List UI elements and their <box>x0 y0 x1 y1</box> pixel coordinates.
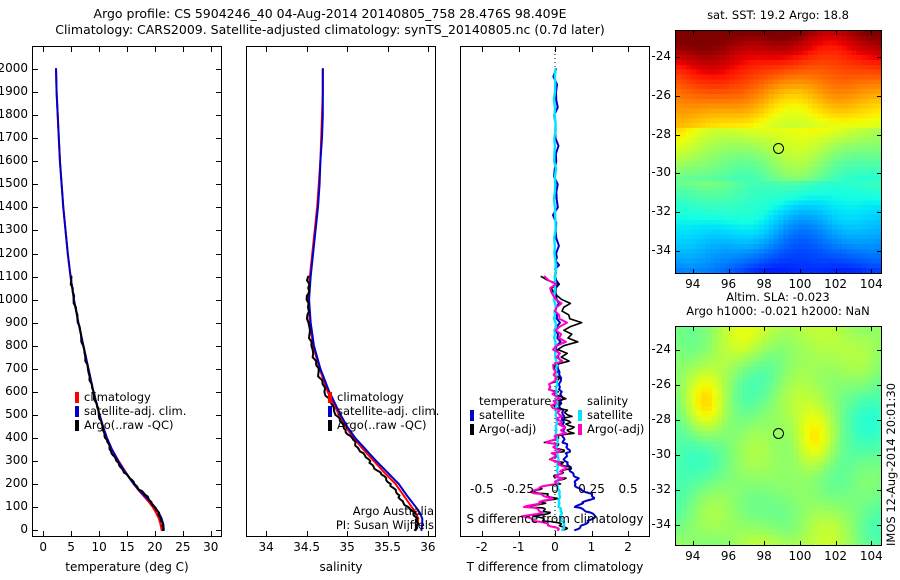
temperature-legend-label: climatology <box>84 390 151 404</box>
difference-temperature-legend-item[interactable]: satellite <box>470 408 551 422</box>
salinity-xaxis-label: salinity <box>246 560 436 574</box>
x-tick-top <box>127 46 128 52</box>
y-tick <box>32 69 38 70</box>
map-y-tick-right <box>877 490 882 491</box>
map-x-tick <box>729 541 730 546</box>
x-tick-top <box>482 46 483 52</box>
y-tick-label: 1900 <box>0 84 28 98</box>
map-x-tick-top <box>764 30 765 35</box>
map-y-tick-right <box>877 525 882 526</box>
difference-legend-temperature: temperaturesatelliteArgo(-adj) <box>470 394 551 436</box>
difference-temperature-legend-item[interactable]: Argo(-adj) <box>470 422 551 436</box>
y-tick-right <box>216 530 222 531</box>
y-tick <box>32 254 38 255</box>
map-y-tick-right <box>877 135 882 136</box>
y-tick-label: 600 <box>0 384 28 398</box>
x-tick-top <box>592 46 593 52</box>
salinity-legend-item[interactable]: satellite-adj. clim. <box>328 404 439 418</box>
difference-salinity-legend-swatch-icon <box>578 424 582 435</box>
y-tick-label: 700 <box>0 361 28 375</box>
y-tick-label: 1400 <box>0 199 28 213</box>
x-tick <box>482 531 483 537</box>
difference-temperature-legend-group-label: temperature <box>470 394 551 408</box>
map-x-tick <box>836 269 837 274</box>
y-tick-label: 2000 <box>0 61 28 75</box>
y-tick <box>32 461 38 462</box>
salinity-annotation: Argo Australia PI: Susan Wijffels <box>266 504 434 532</box>
map-x-tick <box>764 269 765 274</box>
map-x-tick <box>764 541 765 546</box>
difference-salinity-legend-item[interactable]: satellite <box>578 408 644 422</box>
map-y-tick <box>675 525 680 526</box>
x-tick <box>43 531 44 537</box>
difference-salinity-legend-swatch-icon <box>578 410 582 421</box>
x-tick-top <box>43 46 44 52</box>
sla-title-line-1: Altim. SLA: -0.023 <box>668 290 888 304</box>
y-tick-right <box>216 161 222 162</box>
x-tick-label: 30 <box>181 540 241 554</box>
y-tick <box>32 184 38 185</box>
map-y-tick-label: -28 <box>637 412 671 426</box>
y-tick-right <box>216 69 222 70</box>
y-tick-right <box>216 415 222 416</box>
imos-timestamp: IMOS 12-Aug-2014 20:01:30 <box>884 383 898 546</box>
y-tick-label: 0 <box>0 522 28 536</box>
y-tick-right <box>216 277 222 278</box>
x-tick <box>127 531 128 537</box>
x-tick <box>628 531 629 537</box>
salinity-legend-item[interactable]: climatology <box>328 390 439 404</box>
x-tick-top <box>347 46 348 52</box>
y-tick-right <box>216 438 222 439</box>
y-tick-right <box>216 369 222 370</box>
y-tick-label: 200 <box>0 476 28 490</box>
temperature-legend-item[interactable]: satellite-adj. clim. <box>75 404 186 418</box>
map-y-tick-label: -24 <box>637 342 671 356</box>
map-x-tick <box>800 269 801 274</box>
map-y-tick <box>675 135 680 136</box>
difference-legend-salinity: salinitysatelliteArgo(-adj) <box>578 394 644 436</box>
y-tick-right <box>216 207 222 208</box>
annotation-line-1: Argo Australia <box>266 504 434 518</box>
map-x-tick-top <box>871 30 872 35</box>
map-y-tick <box>675 490 680 491</box>
y-tick-right <box>216 115 222 116</box>
map-y-tick-label: -28 <box>637 127 671 141</box>
salinity-legend-swatch-icon <box>328 406 332 417</box>
annotation-line-2: PI: Susan Wijffels <box>266 518 434 532</box>
salinity-legend-label: climatology <box>337 390 404 404</box>
difference-temperature-legend-label: Argo(-adj) <box>479 422 536 436</box>
temperature-profile-plot <box>32 46 222 537</box>
y-tick-right <box>216 254 222 255</box>
map-x-tick-label: 104 <box>846 277 896 291</box>
temperature-legend-swatch-icon <box>75 392 79 403</box>
temperature-legend-label: satellite-adj. clim. <box>84 404 186 418</box>
y-tick <box>32 300 38 301</box>
map-x-tick-top <box>800 326 801 331</box>
y-tick-label: 100 <box>0 499 28 513</box>
difference-salinity-legend-label: satellite <box>587 408 633 422</box>
salinity-legend-label: satellite-adj. clim. <box>337 404 439 418</box>
sst-map-title: sat. SST: 19.2 Argo: 18.8 <box>668 8 888 22</box>
x-tick <box>519 531 520 537</box>
x-tick-top <box>183 46 184 52</box>
y-tick <box>32 323 38 324</box>
y-tick <box>32 369 38 370</box>
x-tick-label: 36 <box>398 540 458 554</box>
map-x-tick-top <box>836 30 837 35</box>
map-y-tick-right <box>877 350 882 351</box>
map-y-tick-label: -32 <box>637 482 671 496</box>
map-x-tick <box>693 541 694 546</box>
difference-profile-plot <box>460 46 650 537</box>
y-tick-label: 500 <box>0 407 28 421</box>
y-tick-right <box>216 507 222 508</box>
map-y-tick-right <box>877 420 882 421</box>
y-tick <box>32 530 38 531</box>
map-x-tick <box>800 541 801 546</box>
salinity-profile-plot <box>246 46 436 537</box>
y-tick-label: 900 <box>0 315 28 329</box>
y-tick-right <box>216 323 222 324</box>
y-tick <box>32 484 38 485</box>
y-tick-label: 1500 <box>0 176 28 190</box>
map-x-tick-top <box>800 30 801 35</box>
temperature-legend-label: Argo(..raw -QC) <box>84 418 174 432</box>
map-y-tick <box>675 251 680 252</box>
map-y-tick <box>675 173 680 174</box>
map-y-tick <box>675 212 680 213</box>
y-tick <box>32 277 38 278</box>
difference-salinity-legend-item[interactable]: Argo(-adj) <box>578 422 644 436</box>
salinity-legend-item[interactable]: Argo(..raw -QC) <box>328 418 439 432</box>
sla-title-line-2: Argo h1000: -0.021 h2000: NaN <box>668 304 888 318</box>
x-tick-top <box>307 46 308 52</box>
y-tick-right <box>216 484 222 485</box>
x-tick-top <box>266 46 267 52</box>
map-y-tick <box>675 96 680 97</box>
y-tick-label: 1200 <box>0 246 28 260</box>
x-tick-top <box>519 46 520 52</box>
title-line-2: Climatology: CARS2009. Satellite-adjuste… <box>0 22 660 38</box>
map-y-tick-label: -30 <box>637 165 671 179</box>
map-y-tick <box>675 420 680 421</box>
y-tick-right <box>216 300 222 301</box>
profile-location-marker <box>773 143 784 154</box>
map-x-tick <box>693 269 694 274</box>
x-tick <box>555 531 556 537</box>
map-y-tick-label: -34 <box>637 243 671 257</box>
salinity-legend: climatologysatellite-adj. clim.Argo(..ra… <box>328 390 439 432</box>
y-tick-right <box>216 392 222 393</box>
y-tick-right <box>216 92 222 93</box>
salinity-legend-swatch-icon <box>328 392 332 403</box>
sla-map-title: Altim. SLA: -0.023 Argo h1000: -0.021 h2… <box>668 290 888 318</box>
map-y-tick-right <box>877 455 882 456</box>
y-tick-label: 1000 <box>0 292 28 306</box>
temperature-legend-swatch-icon <box>75 406 79 417</box>
y-tick <box>32 415 38 416</box>
x-tick <box>592 531 593 537</box>
y-tick-right <box>216 346 222 347</box>
y-tick <box>32 230 38 231</box>
temperature-legend-item[interactable]: climatology <box>75 390 186 404</box>
y-tick-label: 1100 <box>0 269 28 283</box>
y-tick-label: 1700 <box>0 130 28 144</box>
y-tick-label: 1300 <box>0 222 28 236</box>
map-y-tick <box>675 455 680 456</box>
y-tick-label: 300 <box>0 453 28 467</box>
map-y-tick-label: -26 <box>637 377 671 391</box>
map-x-tick-top <box>693 30 694 35</box>
map-y-tick-label: -26 <box>637 88 671 102</box>
map-x-tick-top <box>693 326 694 331</box>
temperature-legend-item[interactable]: Argo(..raw -QC) <box>75 418 186 432</box>
difference-temperature-legend-swatch-icon <box>470 424 474 435</box>
temperature-xaxis-label: temperature (deg C) <box>32 560 222 574</box>
map-x-tick-top <box>871 326 872 331</box>
y-tick-label: 400 <box>0 430 28 444</box>
map-x-tick-top <box>836 326 837 331</box>
x-tick-top <box>71 46 72 52</box>
y-tick <box>32 438 38 439</box>
map-y-tick <box>675 385 680 386</box>
map-x-tick <box>836 541 837 546</box>
map-x-tick-label: 104 <box>846 549 896 563</box>
map-x-tick-top <box>729 30 730 35</box>
map-y-tick-label: -34 <box>637 517 671 531</box>
x-tick-top <box>388 46 389 52</box>
y-tick-label: 800 <box>0 338 28 352</box>
sla-map[interactable] <box>675 326 882 546</box>
difference-temperature-legend-swatch-icon <box>470 410 474 421</box>
map-x-tick <box>871 269 872 274</box>
y-tick-right <box>216 461 222 462</box>
map-y-tick-right <box>877 251 882 252</box>
y-tick <box>32 346 38 347</box>
difference-salinity-legend-label: Argo(-adj) <box>587 422 644 436</box>
map-y-tick-label: -32 <box>637 204 671 218</box>
y-tick <box>32 138 38 139</box>
y-tick <box>32 161 38 162</box>
map-x-tick <box>729 269 730 274</box>
y-tick-right <box>216 184 222 185</box>
y-tick <box>32 507 38 508</box>
profile-location-marker-sla <box>773 428 784 439</box>
salinity-legend-label: Argo(..raw -QC) <box>337 418 427 432</box>
difference-salinity-legend-group-label: salinity <box>578 394 644 408</box>
y-tick <box>32 115 38 116</box>
map-y-tick-right <box>877 385 882 386</box>
x-tick <box>99 531 100 537</box>
x-tick-top <box>211 46 212 52</box>
salinity-legend-swatch-icon <box>328 420 332 431</box>
x-tick <box>71 531 72 537</box>
difference-xaxis-label-bottom: T difference from climatology <box>450 560 660 574</box>
title-line-1: Argo profile: CS 5904246_40 04-Aug-2014 … <box>0 6 660 22</box>
temperature-legend-swatch-icon <box>75 420 79 431</box>
map-y-tick <box>675 57 680 58</box>
map-x-tick <box>871 541 872 546</box>
temperature-legend: climatologysatellite-adj. clim.Argo(..ra… <box>75 390 186 432</box>
x-tick <box>155 531 156 537</box>
difference-xaxis-label-top: S difference from climatology <box>450 512 660 526</box>
map-y-tick-right <box>877 173 882 174</box>
y-tick-label: 1800 <box>0 107 28 121</box>
y-tick-right <box>216 138 222 139</box>
y-tick-right <box>216 230 222 231</box>
map-y-tick-right <box>877 96 882 97</box>
map-y-tick-right <box>877 57 882 58</box>
map-y-tick <box>675 350 680 351</box>
x-tick <box>183 531 184 537</box>
y-tick <box>32 92 38 93</box>
y-tick-label: 1600 <box>0 153 28 167</box>
map-y-tick-label: -24 <box>637 49 671 63</box>
x-tick-top <box>555 46 556 52</box>
map-x-tick-top <box>764 326 765 331</box>
x-tick-top <box>155 46 156 52</box>
x-tick-top <box>428 46 429 52</box>
y-tick <box>32 207 38 208</box>
x-tick-top <box>99 46 100 52</box>
map-x-tick-top <box>729 326 730 331</box>
figure-title: Argo profile: CS 5904246_40 04-Aug-2014 … <box>0 6 660 38</box>
x-tick-top <box>628 46 629 52</box>
x-tick-label: 2 <box>598 540 658 554</box>
map-y-tick-label: -30 <box>637 447 671 461</box>
difference-temperature-legend-label: satellite <box>479 408 525 422</box>
y-tick <box>32 392 38 393</box>
sst-map[interactable] <box>675 30 882 274</box>
x-tick <box>211 531 212 537</box>
map-y-tick-right <box>877 212 882 213</box>
